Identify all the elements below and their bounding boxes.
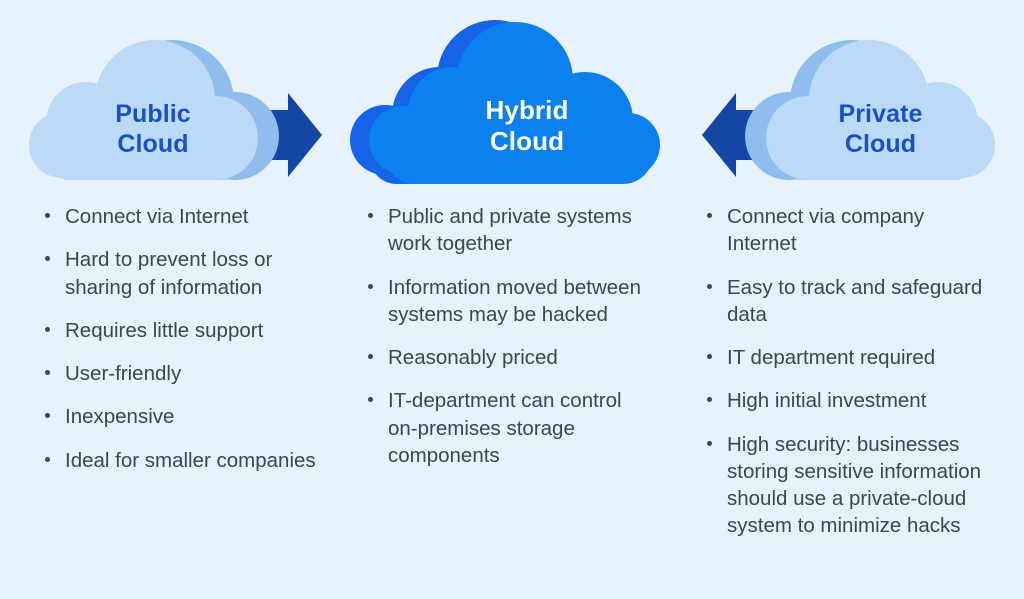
list-item-label: Easy to track and safeguard data <box>727 274 985 329</box>
bullet-dot-icon <box>707 441 712 446</box>
bullet-dot-icon <box>368 397 373 402</box>
private-cloud-feature-list: Connect via company Internet Easy to tra… <box>700 203 985 540</box>
list-item-label: User-friendly <box>65 360 318 387</box>
list-item: IT-department can control on-premises st… <box>361 387 651 469</box>
bullet-dot-icon <box>368 284 373 289</box>
bullet-dot-icon <box>368 213 373 218</box>
list-item: Requires little support <box>38 317 318 344</box>
hybrid-cloud-body <box>369 22 660 184</box>
list-item: Easy to track and safeguard data <box>700 274 985 329</box>
list-item: IT department required <box>700 344 985 371</box>
list-item: Reasonably priced <box>361 344 651 371</box>
list-item: Inexpensive <box>38 403 318 430</box>
private-cloud-group: Private Cloud <box>685 0 1024 200</box>
list-item: High initial investment <box>700 387 985 414</box>
list-item: Ideal for smaller companies <box>38 447 318 474</box>
bullet-dot-icon <box>707 397 712 402</box>
bullet-dot-icon <box>707 213 712 218</box>
bullet-dot-icon <box>368 354 373 359</box>
list-item: Hard to prevent loss or sharing of infor… <box>38 246 318 301</box>
public-cloud-shape <box>0 0 345 200</box>
hybrid-cloud-features-column: Public and private systems work together… <box>361 203 651 485</box>
bullet-dot-icon <box>45 457 50 462</box>
list-item-label: Ideal for smaller companies <box>65 447 318 474</box>
list-item-label: Inexpensive <box>65 403 318 430</box>
hybrid-cloud-shape <box>345 0 685 200</box>
bullet-dot-icon <box>707 354 712 359</box>
public-cloud-feature-list: Connect via Internet Hard to prevent los… <box>38 203 318 474</box>
private-cloud-body <box>766 40 995 180</box>
list-item-label: Information moved between systems may be… <box>388 274 651 329</box>
private-cloud-features-column: Connect via company Internet Easy to tra… <box>700 203 985 556</box>
list-item: User-friendly <box>38 360 318 387</box>
bullet-dot-icon <box>45 370 50 375</box>
list-item-label: Connect via company Internet <box>727 203 985 258</box>
public-cloud-features-column: Connect via Internet Hard to prevent los… <box>38 203 318 490</box>
list-item-label: Connect via Internet <box>65 203 318 230</box>
list-item-label: Hard to prevent loss or sharing of infor… <box>65 246 318 301</box>
bullet-dot-icon <box>45 413 50 418</box>
list-item-label: High initial investment <box>727 387 985 414</box>
list-item: High security: businesses storing sensit… <box>700 431 985 540</box>
list-item: Connect via company Internet <box>700 203 985 258</box>
public-cloud-body <box>29 40 258 180</box>
list-item-label: Reasonably priced <box>388 344 651 371</box>
list-item-label: Requires little support <box>65 317 318 344</box>
bullet-dot-icon <box>45 213 50 218</box>
private-cloud-shape <box>685 0 1024 200</box>
public-cloud-group: Public Cloud <box>0 0 345 200</box>
list-item-label: Public and private systems work together <box>388 203 651 258</box>
list-item-label: IT department required <box>727 344 985 371</box>
bullet-dot-icon <box>45 327 50 332</box>
list-item: Public and private systems work together <box>361 203 651 258</box>
bullet-dot-icon <box>45 256 50 261</box>
feature-columns: Connect via Internet Hard to prevent los… <box>0 203 1024 599</box>
list-item-label: High security: businesses storing sensit… <box>727 431 985 540</box>
cloud-diagram-row: Public Cloud <box>0 0 1024 200</box>
cloud-comparison-infographic: Public Cloud <box>0 0 1024 599</box>
bullet-dot-icon <box>707 284 712 289</box>
list-item: Connect via Internet <box>38 203 318 230</box>
list-item: Information moved between systems may be… <box>361 274 651 329</box>
list-item-label: IT-department can control on-premises st… <box>388 387 651 469</box>
hybrid-cloud-feature-list: Public and private systems work together… <box>361 203 651 469</box>
hybrid-cloud-group: Hybrid Cloud <box>345 0 685 200</box>
